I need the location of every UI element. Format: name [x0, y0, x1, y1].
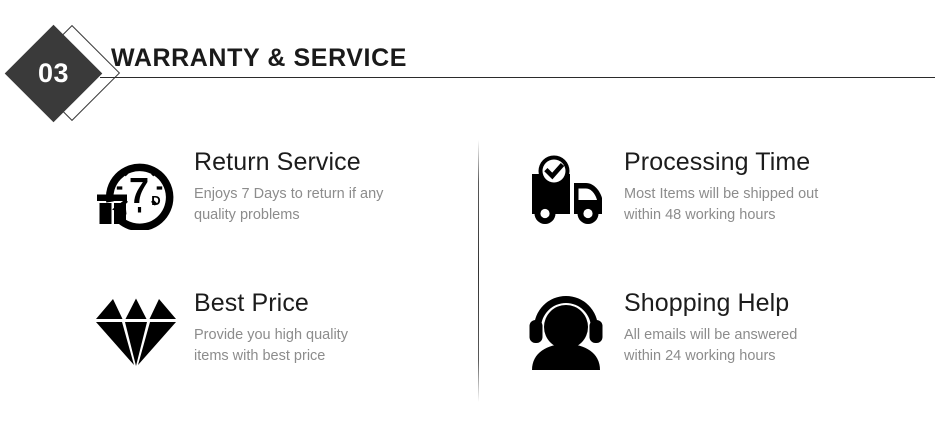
feature-text-block: Processing Time Most Items will be shipp… — [614, 146, 818, 227]
header-divider-line — [100, 77, 935, 78]
feature-title: Return Service — [194, 148, 383, 177]
warranty-service-banner: 03 WARRANTY & SERVICE — [0, 0, 950, 428]
delivery-truck-check-icon — [518, 146, 614, 234]
section-header: 03 WARRANTY & SERVICE — [0, 0, 950, 132]
feature-description: Provide you high quality items with best… — [194, 325, 348, 368]
feature-description: All emails will be answered within 24 wo… — [624, 325, 797, 368]
feature-text-block: Return Service Enjoys 7 Days to return i… — [184, 146, 383, 227]
feature-description-line2: within 24 working hours — [624, 346, 797, 367]
feature-item-best-price: Best Price Provide you high quality item… — [88, 287, 488, 375]
feature-text-block: Best Price Provide you high quality item… — [184, 287, 348, 368]
headset-support-person-icon — [518, 287, 614, 375]
feature-description-line2: within 48 working hours — [624, 205, 818, 226]
feature-description: Most Items will be shipped out within 48… — [624, 184, 818, 227]
feature-description-line2: quality problems — [194, 205, 383, 226]
feature-description: Enjoys 7 Days to return if any quality p… — [194, 184, 383, 227]
return-icon-days-number: 7 — [129, 170, 149, 211]
feature-item-processing-time: Processing Time Most Items will be shipp… — [518, 146, 918, 234]
feature-grid: 7 D Return Service Enjoys 7 Days to retu… — [0, 132, 950, 402]
feature-title: Processing Time — [624, 148, 818, 177]
feature-item-shopping-help: Shopping Help All emails will be answere… — [518, 287, 918, 375]
return-clock-7days-gift-icon: 7 D — [88, 146, 184, 234]
feature-description-line1: Provide you high quality — [194, 327, 348, 343]
feature-description-line1: All emails will be answered — [624, 327, 797, 343]
page-title: WARRANTY & SERVICE — [111, 44, 407, 73]
feature-description-line2: items with best price — [194, 346, 348, 367]
feature-text-block: Shopping Help All emails will be answere… — [614, 287, 797, 368]
section-number-label: 03 — [19, 39, 88, 108]
feature-item-return-service: 7 D Return Service Enjoys 7 Days to retu… — [88, 146, 488, 234]
diamond-gem-icon — [88, 287, 184, 375]
feature-title: Best Price — [194, 289, 348, 318]
feature-description-line1: Enjoys 7 Days to return if any — [194, 186, 383, 202]
feature-title: Shopping Help — [624, 289, 797, 318]
gift-box-shape — [97, 195, 127, 225]
feature-description-line1: Most Items will be shipped out — [624, 186, 818, 202]
return-icon-days-unit: D — [151, 193, 160, 208]
